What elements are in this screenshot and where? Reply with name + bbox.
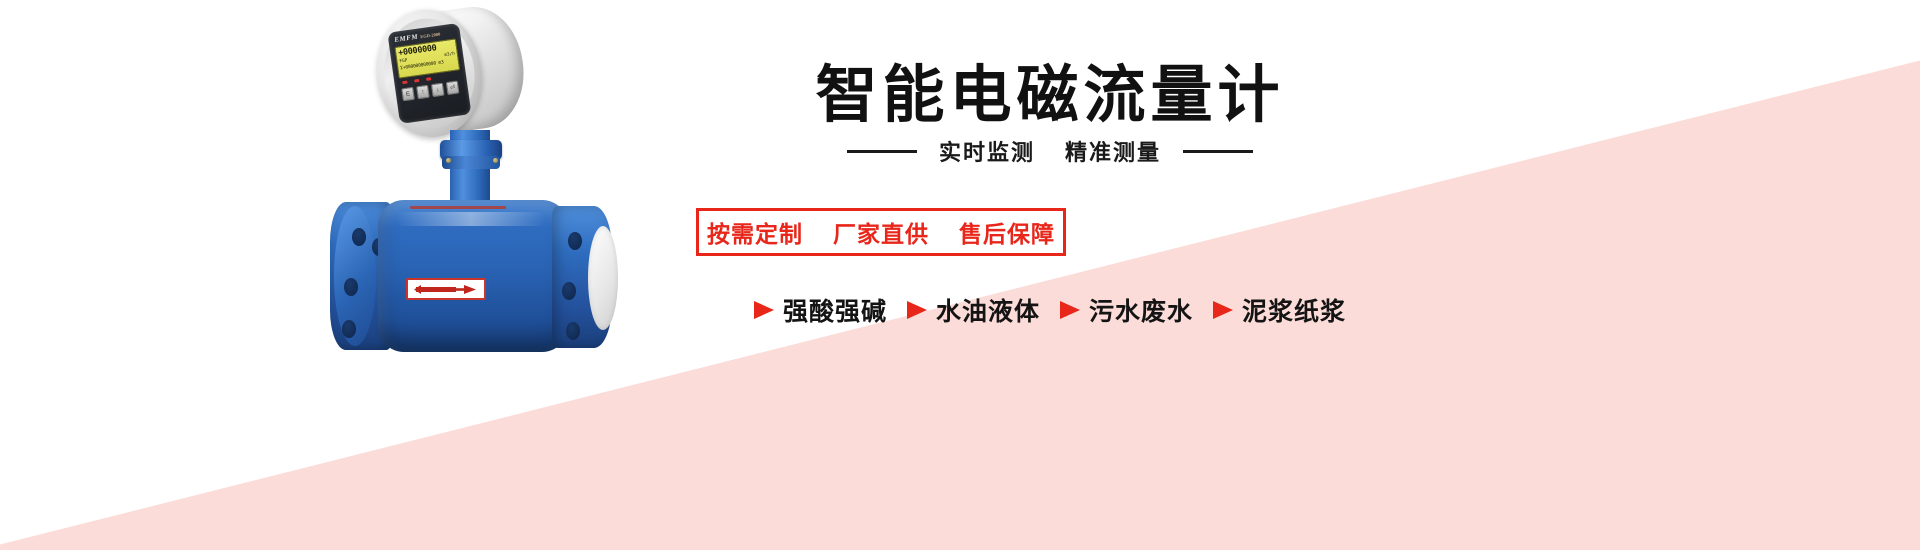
flange-bolt-hole bbox=[568, 232, 582, 250]
triangle-right-icon bbox=[907, 301, 927, 319]
feature-label: 泥浆纸浆 bbox=[1242, 292, 1346, 328]
feature-item: 污水废水 bbox=[1060, 292, 1193, 328]
triangle-right-icon bbox=[1213, 301, 1233, 319]
feature-label: 污水废水 bbox=[1089, 292, 1193, 328]
flange-bolt-hole bbox=[352, 228, 366, 246]
feature-item: 水油液体 bbox=[907, 292, 1040, 328]
model-text: EGD-2000 bbox=[420, 32, 441, 40]
promo-item-1: 按需定制 bbox=[707, 215, 803, 249]
subtitle-item-1: 实时监测 bbox=[939, 135, 1035, 167]
flange-bolt bbox=[493, 158, 498, 163]
feature-item: 强酸强碱 bbox=[754, 292, 887, 328]
promo-item-3: 售后保障 bbox=[959, 215, 1055, 249]
subtitle-rule-left bbox=[847, 150, 917, 153]
keypad-key[interactable]: E bbox=[401, 87, 415, 102]
meter-body-highlight bbox=[396, 212, 546, 226]
copy-block: 智能电磁流量计 实时监测 精准测量 按需定制 厂家直供 售后保障 强酸强碱 水油… bbox=[600, 0, 1500, 550]
promo-box: 按需定制 厂家直供 售后保障 bbox=[696, 208, 1066, 256]
subtitle-rule-right bbox=[1183, 150, 1253, 153]
flange-bolt-hole bbox=[562, 282, 576, 300]
flange-bolt-hole bbox=[566, 322, 580, 340]
led-indicator bbox=[402, 81, 407, 85]
led-indicator bbox=[414, 79, 419, 83]
flange-bolt-hole bbox=[342, 320, 356, 338]
triangle-right-icon bbox=[754, 301, 774, 319]
meter-body-accent-line bbox=[410, 206, 506, 209]
subtitle-row: 实时监测 精准测量 bbox=[600, 135, 1500, 167]
triangle-right-icon bbox=[1060, 301, 1080, 319]
feature-label: 水油液体 bbox=[936, 292, 1040, 328]
feature-label: 强酸强碱 bbox=[783, 292, 887, 328]
feature-list: 强酸强碱 水油液体 污水废水 泥浆纸浆 bbox=[600, 292, 1500, 328]
flow-direction-arrow-icon bbox=[414, 283, 478, 296]
lcd-display: +0000000 FGP m3/h Σ+000000000000 m3 bbox=[394, 38, 460, 78]
flange-bolt bbox=[446, 158, 451, 163]
transmitter-faceplate: EMFM EGD-2000 +0000000 FGP m3/h Σ+000000… bbox=[387, 23, 471, 124]
banner-root: EMFM EGD-2000 +0000000 FGP m3/h Σ+000000… bbox=[0, 0, 1920, 550]
keypad-key[interactable]: ↓ bbox=[431, 83, 445, 98]
keypad-key[interactable]: ⏎ bbox=[446, 81, 460, 96]
flow-direction-label bbox=[406, 278, 486, 300]
promo-item-2: 厂家直供 bbox=[833, 215, 929, 249]
keypad-key[interactable]: ↑ bbox=[416, 85, 430, 100]
neck-flange-lower bbox=[442, 156, 500, 169]
brand-text: EMFM bbox=[394, 33, 419, 44]
subtitle-item-2: 精准测量 bbox=[1065, 135, 1161, 167]
led-indicator bbox=[426, 77, 431, 81]
page-title: 智能电磁流量计 bbox=[600, 44, 1500, 134]
feature-item: 泥浆纸浆 bbox=[1213, 292, 1346, 328]
flange-bolt-hole bbox=[344, 278, 358, 296]
subtitle-text: 实时监测 精准测量 bbox=[939, 135, 1161, 167]
